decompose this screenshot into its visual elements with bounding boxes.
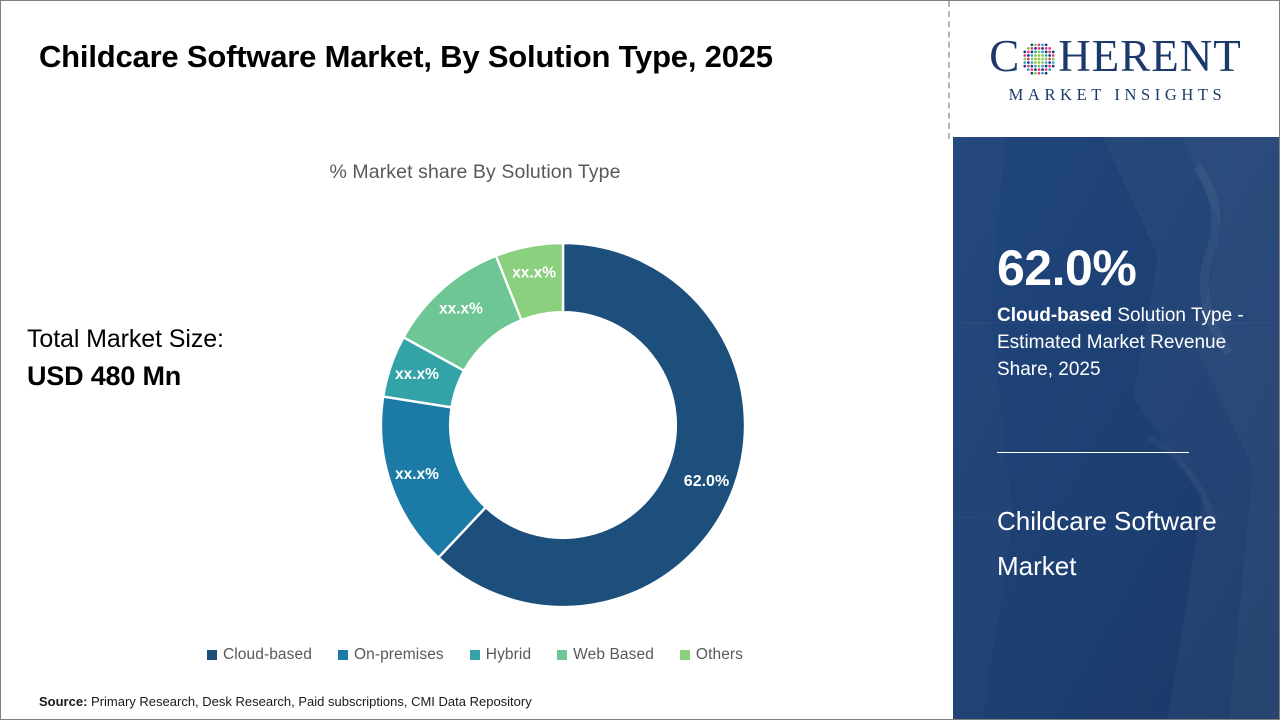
logo-dot [1024, 61, 1027, 64]
panel-background-texture [953, 137, 1279, 719]
brand-logo: C HERENT MARKET INSIGHTS [952, 1, 1279, 137]
legend-swatch-icon [338, 650, 348, 660]
logo-dot [1045, 64, 1048, 67]
legend-item[interactable]: Web Based [557, 646, 654, 664]
logo-dot [1045, 50, 1048, 53]
logo-dot [1031, 64, 1034, 67]
logo-subtitle: MARKET INSIGHTS [1005, 85, 1227, 105]
donut-slice-label: 62.0% [684, 473, 729, 490]
logo-dot [1027, 50, 1030, 53]
logo-dot [1031, 57, 1034, 60]
logo-dot [1027, 68, 1030, 71]
legend-label: Cloud-based [223, 646, 312, 664]
legend-label: Hybrid [486, 646, 531, 664]
logo-letters-herent: HERENT [1058, 34, 1241, 79]
logo-dot [1034, 71, 1037, 74]
page-title: Childcare Software Market, By Solution T… [39, 33, 869, 81]
logo-dot [1031, 50, 1034, 53]
logo-dot [1041, 64, 1044, 67]
logo-dot [1027, 47, 1030, 50]
logo-dot [1049, 61, 1052, 64]
logo-dot [1049, 68, 1052, 71]
logo-dot [1038, 54, 1041, 57]
left-content-panel: Childcare Software Market, By Solution T… [1, 1, 949, 719]
stat-caption: Cloud-based Solution Type - Estimated Ma… [997, 303, 1247, 384]
donut-slice-label: xx.x% [512, 264, 556, 281]
legend-swatch-icon [680, 650, 690, 660]
logo-dot [1027, 64, 1030, 67]
source-line: Source: Primary Research, Desk Research,… [39, 694, 532, 709]
total-market-size-value: USD 480 Mn [27, 357, 327, 396]
legend-swatch-icon [557, 650, 567, 660]
logo-dot [1045, 61, 1048, 64]
logo-dot [1034, 54, 1037, 57]
logo-dot [1038, 50, 1041, 53]
logo-dot [1041, 54, 1044, 57]
logo-letter-c: C [989, 34, 1020, 79]
legend-item[interactable]: Hybrid [470, 646, 531, 664]
donut-slice-group [381, 243, 745, 607]
donut-slice-label: xx.x% [395, 366, 439, 383]
infographic-page: Childcare Software Market, By Solution T… [0, 0, 1280, 720]
logo-dot [1034, 57, 1037, 60]
total-market-size-block: Total Market Size: USD 480 Mn [27, 323, 327, 396]
stat-percentage: 62.0% [997, 243, 1247, 293]
logo-dot [1031, 54, 1034, 57]
logo-dot [1024, 57, 1027, 60]
logo-dot [1038, 68, 1041, 71]
logo-dot [1024, 54, 1027, 57]
legend-item[interactable]: Others [680, 646, 743, 664]
logo-dot [1052, 50, 1055, 53]
logo-dot [1027, 54, 1030, 57]
logo-dot [1041, 68, 1044, 71]
logo-dot [1045, 43, 1048, 46]
logo-dot [1038, 71, 1041, 74]
logo-dot [1052, 61, 1055, 64]
logo-dot [1049, 64, 1052, 67]
logo-dot [1041, 61, 1044, 64]
legend-label: Others [696, 646, 743, 664]
logo-dot [1038, 64, 1041, 67]
logo-dot [1045, 68, 1048, 71]
chart-legend: Cloud-basedOn-premisesHybridWeb BasedOth… [1, 646, 949, 664]
legend-item[interactable]: On-premises [338, 646, 444, 664]
right-sidebar: C HERENT MARKET INSIGHTS [952, 1, 1279, 719]
logo-dot [1041, 50, 1044, 53]
logo-dot [1049, 47, 1052, 50]
logo-dot [1041, 57, 1044, 60]
logo-dot [1038, 47, 1041, 50]
logo-dot [1052, 54, 1055, 57]
chart-subtitle: % Market share By Solution Type [1, 161, 949, 184]
donut-chart-svg: 62.0%xx.x%xx.x%xx.x%xx.x% [381, 227, 751, 623]
logo-dot [1045, 47, 1048, 50]
logo-dot [1038, 61, 1041, 64]
logo-dot [1052, 57, 1055, 60]
logo-dot [1031, 43, 1034, 46]
logo-dot [1027, 57, 1030, 60]
source-label: Source: [39, 694, 87, 709]
sidebar-stat-panel: 62.0% Cloud-based Solution Type - Estima… [953, 137, 1279, 719]
legend-swatch-icon [470, 650, 480, 660]
logo-dot [1034, 50, 1037, 53]
logo-dot [1045, 54, 1048, 57]
logo-dot [1049, 57, 1052, 60]
legend-label: On-premises [354, 646, 444, 664]
logo-dot [1049, 50, 1052, 53]
dot-globe-icon [1021, 41, 1057, 77]
logo-dot [1041, 71, 1044, 74]
logo-dot [1031, 68, 1034, 71]
logo-dot [1049, 54, 1052, 57]
legend-item[interactable]: Cloud-based [207, 646, 312, 664]
logo-wordmark: C HERENT [989, 34, 1242, 80]
logo-dot [1045, 71, 1048, 74]
vertical-dashed-divider [948, 1, 950, 139]
logo-dot [1034, 43, 1037, 46]
logo-dot [1034, 68, 1037, 71]
donut-slice-label: xx.x% [439, 300, 483, 317]
logo-dot [1034, 61, 1037, 64]
logo-dot [1045, 57, 1048, 60]
logo-dot [1041, 43, 1044, 46]
logo-dot [1031, 47, 1034, 50]
legend-label: Web Based [573, 646, 654, 664]
logo-dot [1052, 64, 1055, 67]
logo-dot [1034, 64, 1037, 67]
panel-horizontal-rule [997, 452, 1189, 453]
legend-swatch-icon [207, 650, 217, 660]
logo-dot [1041, 47, 1044, 50]
donut-slice-label: xx.x% [395, 466, 439, 483]
total-market-size-label: Total Market Size: [27, 323, 327, 357]
logo-dot [1038, 57, 1041, 60]
logo-dot [1024, 50, 1027, 53]
stat-block: 62.0% Cloud-based Solution Type - Estima… [997, 243, 1247, 384]
source-text: Primary Research, Desk Research, Paid su… [87, 694, 531, 709]
logo-dot [1031, 71, 1034, 74]
logo-dot [1034, 47, 1037, 50]
donut-chart: 62.0%xx.x%xx.x%xx.x%xx.x% [381, 227, 751, 623]
logo-dot [1038, 43, 1041, 46]
logo-dot [1024, 64, 1027, 67]
logo-dot [1031, 61, 1034, 64]
stat-caption-highlight: Cloud-based [997, 305, 1112, 326]
panel-market-name: Childcare Software Market [997, 499, 1247, 588]
logo-dot [1027, 61, 1030, 64]
